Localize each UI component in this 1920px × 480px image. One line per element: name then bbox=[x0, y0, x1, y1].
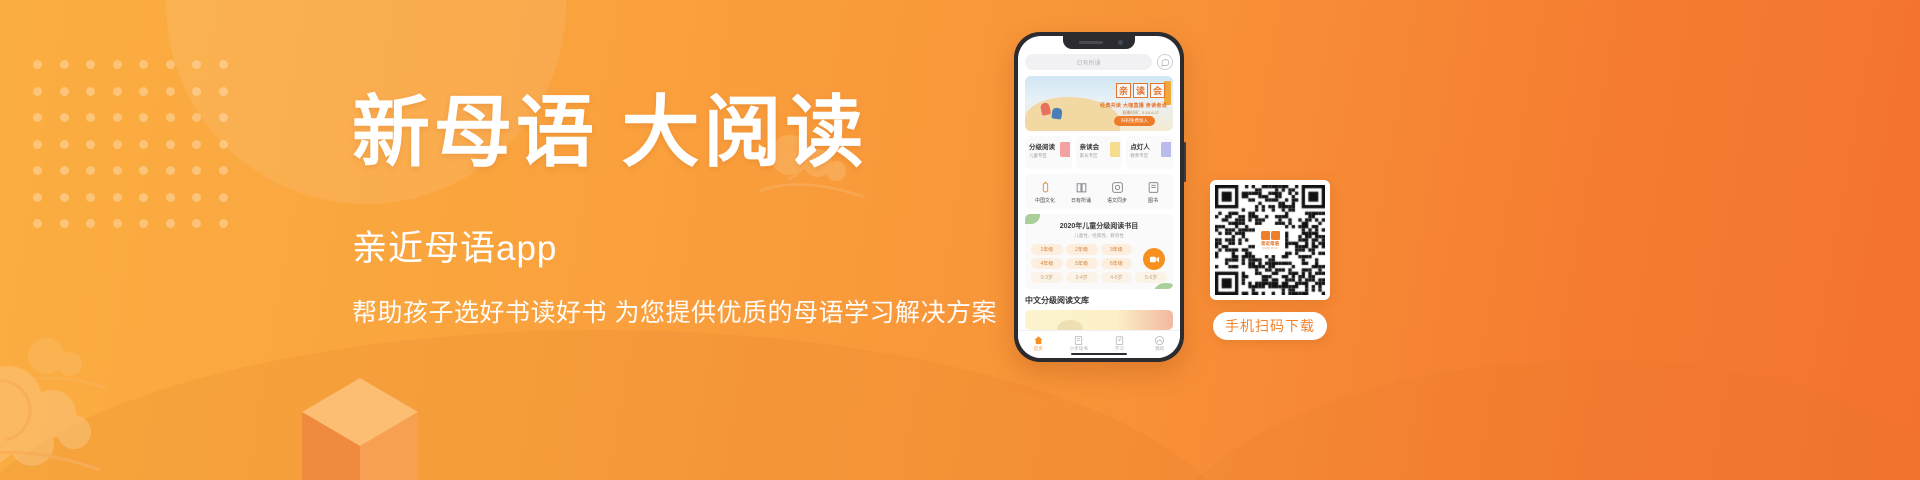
tagline: 帮助孩子选好书读好书 为您提供优质的母语学习解决方案 bbox=[352, 293, 1052, 329]
banner-copy: 新母语 大阅读 亲近母语app 帮助孩子选好书读好书 为您提供优质的母语学习解决… bbox=[352, 92, 1052, 329]
qr-center-logo: 亲近母语 QINJIN MUYU bbox=[1255, 225, 1285, 255]
booklist-title: 2020年儿童分级阅读书目 bbox=[1031, 221, 1167, 231]
tab-label: 学习 bbox=[1099, 346, 1140, 352]
quick-icon-item[interactable]: 日有所诵 bbox=[1063, 181, 1099, 204]
study-icon bbox=[1114, 333, 1125, 344]
sync-icon bbox=[1111, 181, 1124, 194]
app-search-row: 日有所诵 bbox=[1025, 54, 1173, 70]
recite-icon bbox=[1075, 181, 1088, 194]
tab-label: 我的 bbox=[1140, 346, 1181, 352]
phone-mockup: 日有所诵 亲读会 经典共读 大咖直播 亲读者说 直播时间：9.16-9.27 bbox=[1014, 32, 1184, 362]
leaf-decor-bottom bbox=[1153, 283, 1173, 289]
quick-icon-label: 语文同步 bbox=[1099, 197, 1135, 204]
reading-icon bbox=[1073, 333, 1084, 344]
hero-child-figure-2 bbox=[1051, 107, 1062, 119]
phone-screen: 日有所诵 亲读会 经典共读 大咖直播 亲读者说 直播时间：9.16-9.27 bbox=[1018, 36, 1180, 358]
hero-subtitle: 经典共读 大咖直播 亲读者说 bbox=[1100, 102, 1167, 109]
age-pill[interactable]: 4-5岁 bbox=[1101, 272, 1133, 283]
phone-notch bbox=[1063, 36, 1135, 49]
tab-label: 首页 bbox=[1018, 346, 1059, 352]
message-icon[interactable] bbox=[1157, 54, 1173, 70]
grade-pill[interactable]: 3年级 bbox=[1101, 244, 1133, 255]
hero-title-char: 会 bbox=[1150, 83, 1165, 98]
grade-pill[interactable]: 2年级 bbox=[1066, 244, 1098, 255]
age-pill[interactable]: 5-6岁 bbox=[1135, 272, 1167, 283]
grade-pill[interactable]: 5年级 bbox=[1066, 258, 1098, 269]
quick-icon-label: 日有所诵 bbox=[1063, 197, 1099, 204]
category-card-list: 分级阅读儿童专区亲读会家长专区点灯人教师专区 bbox=[1025, 136, 1173, 169]
culture-icon bbox=[1039, 181, 1052, 194]
tab-profile[interactable]: 我的 bbox=[1140, 333, 1181, 352]
app-name: 亲近母语app bbox=[352, 220, 1052, 271]
hero-title-char: 亲 bbox=[1116, 83, 1131, 98]
grade-pill[interactable]: 1年级 bbox=[1031, 244, 1063, 255]
home-indicator bbox=[1071, 353, 1127, 356]
page-title: 新母语 大阅读 bbox=[352, 92, 1052, 174]
grade-pill[interactable]: 4年级 bbox=[1031, 258, 1063, 269]
quick-icon-item[interactable]: 语文同步 bbox=[1099, 181, 1135, 204]
home-icon bbox=[1033, 333, 1044, 344]
library-section-title: 中文分级阅读文库 bbox=[1025, 295, 1173, 306]
cloud-motif-left bbox=[20, 330, 110, 400]
grade-booklist-panel: 2020年儿童分级阅读书目 儿童性、经典性、教育性 1年级2年级3年级4年级5年… bbox=[1025, 214, 1173, 289]
category-card[interactable]: 亲读会家长专区 bbox=[1076, 136, 1123, 169]
logo-book-icon bbox=[1261, 231, 1280, 240]
tab-study[interactable]: 学习 bbox=[1099, 333, 1140, 352]
qr-code-card: 亲近母语 QINJIN MUYU bbox=[1210, 180, 1330, 300]
download-button[interactable]: 手机扫码下载 bbox=[1213, 312, 1327, 340]
promo-hero-card[interactable]: 亲读会 经典共读 大咖直播 亲读者说 直播时间：9.16-9.27 扫码免费加入 bbox=[1025, 76, 1173, 131]
qr-logo-en: QINJIN MUYU bbox=[1262, 247, 1278, 250]
decorative-dot-grid bbox=[33, 60, 245, 246]
grade-pill[interactable]: 6年级 bbox=[1101, 258, 1133, 269]
library-banner[interactable] bbox=[1025, 310, 1173, 330]
quick-icon-row: 中国文化日有所诵语文同步图书 bbox=[1025, 174, 1173, 209]
category-card-icon bbox=[1110, 142, 1120, 157]
category-card-icon bbox=[1060, 142, 1070, 157]
promo-banner: 新母语 大阅读 亲近母语app 帮助孩子选好书读好书 为您提供优质的母语学习解决… bbox=[0, 0, 1920, 480]
qr-code: 亲近母语 QINJIN MUYU bbox=[1215, 185, 1325, 295]
quick-icon-item[interactable]: 中国文化 bbox=[1027, 181, 1063, 204]
profile-icon bbox=[1154, 333, 1165, 344]
decorative-cube bbox=[300, 360, 420, 480]
age-pill[interactable]: 3-4岁 bbox=[1066, 272, 1098, 283]
booklist-subtitle: 儿童性、经典性、教育性 bbox=[1031, 233, 1167, 239]
hero-join-button[interactable]: 扫码免费加入 bbox=[1114, 116, 1155, 126]
hero-title-char: 读 bbox=[1133, 83, 1148, 98]
tab-reading[interactable]: 小步读书 bbox=[1059, 333, 1100, 352]
hero-title: 亲读会 bbox=[1116, 83, 1165, 98]
search-input[interactable]: 日有所诵 bbox=[1025, 54, 1152, 70]
tab-label: 小步读书 bbox=[1059, 346, 1100, 352]
book-icon bbox=[1147, 181, 1160, 194]
category-card[interactable]: 点灯人教师专区 bbox=[1126, 136, 1173, 169]
category-card-icon bbox=[1161, 142, 1171, 157]
category-card[interactable]: 分级阅读儿童专区 bbox=[1025, 136, 1072, 169]
quick-icon-label: 中国文化 bbox=[1027, 197, 1063, 204]
quick-icon-item[interactable]: 图书 bbox=[1135, 181, 1171, 204]
age-pill[interactable]: 0-3岁 bbox=[1031, 272, 1063, 283]
quick-icon-label: 图书 bbox=[1135, 197, 1171, 204]
decorative-hill-right bbox=[1140, 360, 1920, 480]
tab-home[interactable]: 首页 bbox=[1018, 333, 1059, 352]
play-video-icon[interactable] bbox=[1143, 248, 1165, 270]
